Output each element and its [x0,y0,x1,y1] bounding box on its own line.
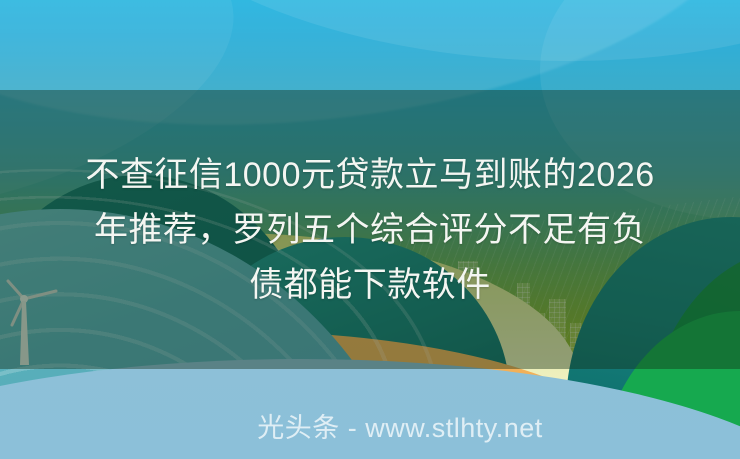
poster-image: 不查征信1000元贷款立马到账的2026 年推荐，罗列五个综合评分不足有负 债都… [0,0,740,459]
watermark-text: 光头条 - www.stlhty.net [0,406,740,445]
page-title: 不查征信1000元贷款立马到账的2026 年推荐，罗列五个综合评分不足有负 债都… [0,148,740,313]
